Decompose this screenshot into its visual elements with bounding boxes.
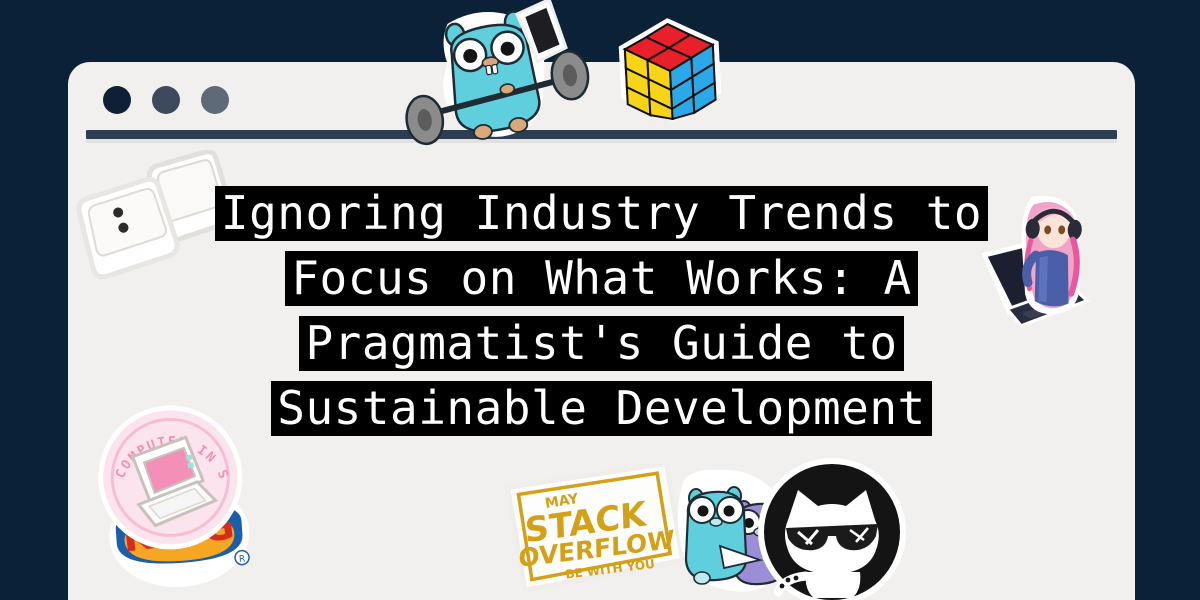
github-octocat-sticker [756, 456, 908, 600]
window-close-dot[interactable] [103, 86, 131, 114]
title-line-4: Sustainable Development [68, 381, 1135, 446]
stack-overflow-star-wars-sticker: MAY STACK OVERFLOW BE WITH YOU [504, 464, 684, 600]
address-bar[interactable] [86, 130, 1117, 139]
title-line-3: Pragmatist's Guide to [68, 316, 1135, 381]
svg-text:R: R [239, 554, 246, 564]
browser-titlebar [68, 62, 1135, 134]
window-minimize-dot[interactable] [152, 86, 180, 114]
rubiks-cube-sticker [614, 14, 726, 126]
gopher-barbell-sticker [393, 0, 598, 148]
window-maximize-dot[interactable] [201, 86, 229, 114]
title-line-2: Focus on What Works: A [68, 251, 1135, 316]
title-line-1: Ignoring Industry Trends to [68, 186, 1135, 251]
page-title: Ignoring Industry Trends to Focus on Wha… [68, 186, 1135, 446]
address-bar-shadow [86, 139, 1117, 143]
